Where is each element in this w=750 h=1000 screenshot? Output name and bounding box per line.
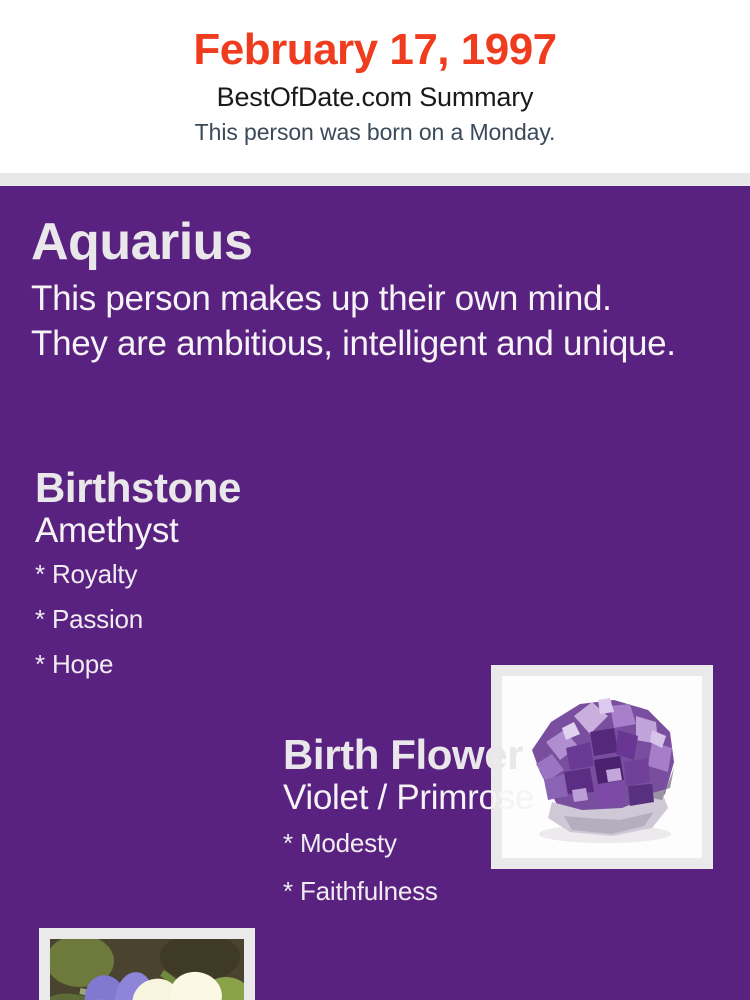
header-divider — [0, 173, 750, 186]
zodiac-sign-title: Aquarius — [31, 214, 691, 270]
zodiac-section: Aquarius This person makes up their own … — [31, 214, 691, 366]
birthstone-name: Amethyst — [35, 510, 465, 552]
birthstone-section: Birthstone Amethyst * Royalty * Passion … — [35, 464, 465, 687]
birth-flower-trait: * Modesty — [283, 819, 723, 867]
birthstone-trait: * Passion — [35, 597, 465, 642]
born-day-text: This person was born on a Monday. — [0, 116, 750, 149]
birth-flower-image — [50, 939, 244, 1000]
page-title: February 17, 1997 — [0, 22, 750, 78]
birthstone-heading: Birthstone — [35, 464, 465, 512]
page-header: February 17, 1997 BestOfDate.com Summary… — [0, 0, 750, 173]
birth-flower-image-frame — [39, 928, 255, 1000]
birthstone-trait: * Hope — [35, 642, 465, 687]
birth-flower-trait: * Faithfulness — [283, 867, 723, 915]
birth-flower-section: Birth Flower Violet / Primrose * Modesty… — [283, 731, 723, 915]
birthstone-trait: * Royalty — [35, 552, 465, 597]
violet-primrose-flower-icon — [50, 939, 244, 1000]
birth-flower-heading: Birth Flower — [283, 731, 723, 779]
birth-flower-name: Violet / Primrose — [283, 777, 723, 819]
summary-panel: Aquarius This person makes up their own … — [0, 186, 750, 1000]
zodiac-description: This person makes up their own mind. The… — [31, 276, 691, 366]
site-name: BestOfDate.com Summary — [0, 78, 750, 116]
